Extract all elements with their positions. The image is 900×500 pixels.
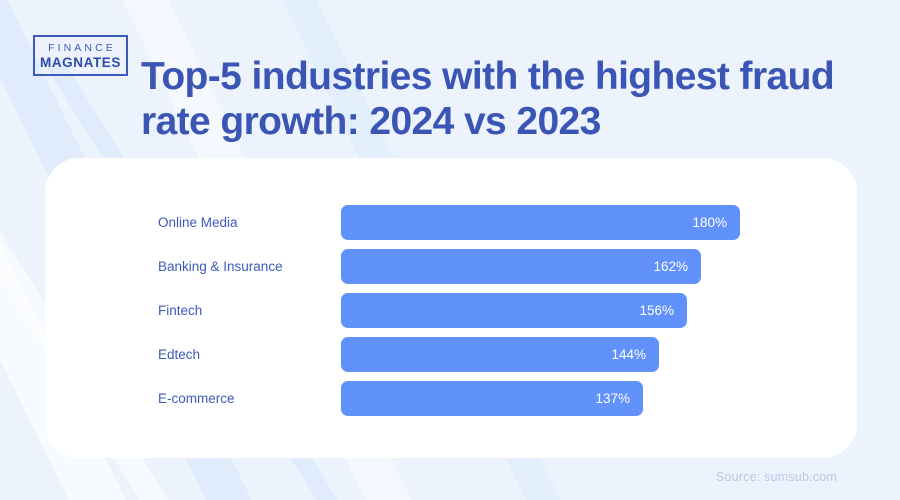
logo-line-finance: FINANCE xyxy=(45,42,116,55)
source-attribution: Source: sumsub.com xyxy=(716,470,837,484)
chart-row: Banking & Insurance162% xyxy=(45,249,857,284)
infographic-canvas: FINANCE MAGNATES Top-5 industries with t… xyxy=(0,0,900,500)
bar-category-label: Edtech xyxy=(158,337,200,372)
bar-value-label: 156% xyxy=(639,303,687,318)
chart-row: Edtech144% xyxy=(45,337,857,372)
page-title: Top-5 industries with the highest fraud … xyxy=(141,54,841,144)
bar: 156% xyxy=(341,293,687,328)
bar-category-label: Fintech xyxy=(158,293,202,328)
bar-category-label: E-commerce xyxy=(158,381,235,416)
finance-magnates-logo: FINANCE MAGNATES xyxy=(33,35,128,76)
bar-chart: Online Media180%Banking & Insurance162%F… xyxy=(45,158,857,458)
bar-category-label: Online Media xyxy=(158,205,238,240)
logo-line-magnates: MAGNATES xyxy=(40,55,121,70)
bar: 137% xyxy=(341,381,643,416)
bar: 162% xyxy=(341,249,701,284)
bar-value-label: 180% xyxy=(692,215,740,230)
bar-value-label: 144% xyxy=(611,347,659,362)
chart-row: E-commerce137% xyxy=(45,381,857,416)
bar-value-label: 137% xyxy=(595,391,643,406)
bar: 144% xyxy=(341,337,659,372)
chart-row: Online Media180% xyxy=(45,205,857,240)
bar: 180% xyxy=(341,205,740,240)
bar-category-label: Banking & Insurance xyxy=(158,249,283,284)
chart-card: Online Media180%Banking & Insurance162%F… xyxy=(45,158,857,458)
chart-row: Fintech156% xyxy=(45,293,857,328)
bar-value-label: 162% xyxy=(653,259,701,274)
